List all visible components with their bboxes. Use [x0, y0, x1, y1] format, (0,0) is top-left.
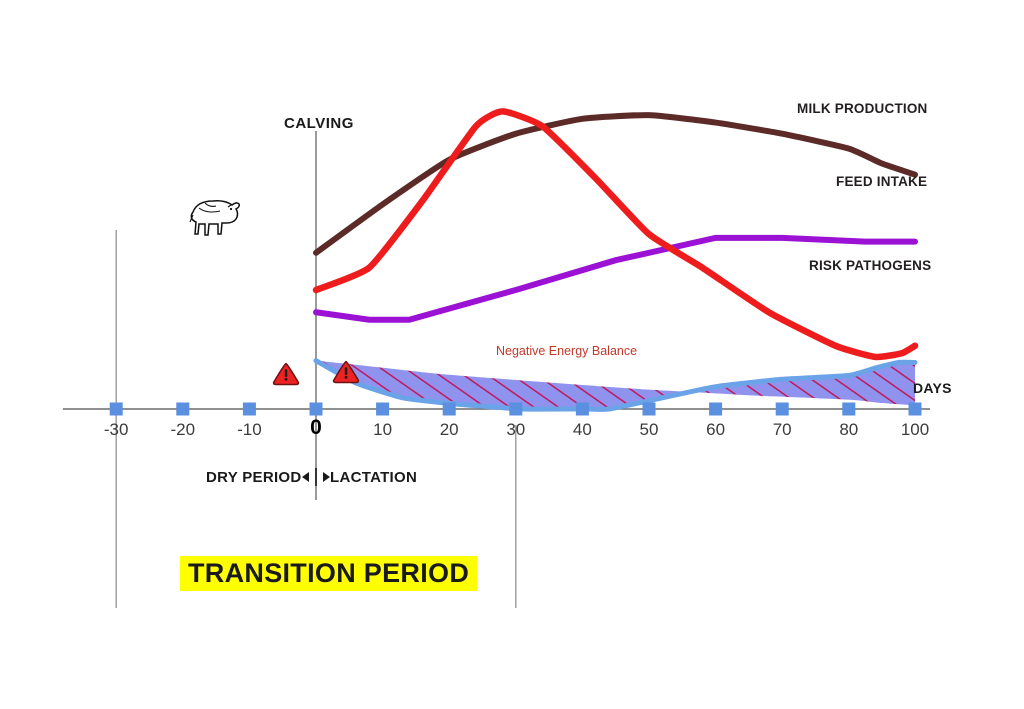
negative-energy-balance-label: Negative Energy Balance — [492, 343, 641, 359]
exclamation-dot — [345, 376, 348, 379]
dry-lactation-arrows — [302, 468, 330, 486]
cow-icon — [190, 201, 239, 235]
chart-canvas: CALVING MILK PRODUCTION FEED INTAKE RISK… — [0, 0, 1024, 709]
exclamation-bar — [345, 367, 347, 375]
x-axis-tick-label: -20 — [171, 420, 196, 440]
x-axis-tick-marker — [909, 403, 922, 416]
x-axis-tick-label: 40 — [573, 420, 592, 440]
x-axis-tick-label: 30 — [506, 420, 525, 440]
x-axis-tick-label: 10 — [373, 420, 392, 440]
x-axis-tick-marker — [643, 403, 656, 416]
legend-label-feed-intake: FEED INTAKE — [836, 174, 927, 189]
x-axis-tick-label: 0 — [310, 416, 322, 440]
exclamation-bar — [285, 369, 287, 377]
x-axis-tick-label: 50 — [640, 420, 659, 440]
x-axis-tick-marker — [509, 403, 522, 416]
x-axis-tick-marker — [243, 403, 256, 416]
x-axis-tick-label: 100 — [901, 420, 929, 440]
arrow-right-icon — [323, 472, 330, 482]
dry-period-label: DRY PERIOD — [206, 469, 302, 486]
x-axis-tick-label: 20 — [440, 420, 459, 440]
negative-energy-balance-region — [316, 361, 915, 410]
x-axis-tick-marker — [576, 403, 589, 416]
transition-period-label: TRANSITION PERIOD — [180, 556, 477, 591]
x-axis-tick-marker — [842, 403, 855, 416]
x-axis-tick-marker — [176, 403, 189, 416]
x-axis-tick-marker — [310, 403, 323, 416]
legend-label-milk-production: MILK PRODUCTION — [797, 101, 928, 116]
arrow-left-icon — [302, 472, 309, 482]
legend-label-risk-pathogens: RISK PATHOGENS — [809, 258, 931, 273]
x-axis-tick-label: 80 — [839, 420, 858, 440]
exclamation-dot — [285, 378, 288, 381]
x-axis-tick-label: -10 — [237, 420, 262, 440]
x-axis-tick-marker — [443, 403, 456, 416]
x-axis-tick-label: 70 — [773, 420, 792, 440]
series-line-milk-production — [316, 115, 915, 253]
transition-period-banner: TRANSITION PERIOD — [180, 558, 477, 589]
x-axis-tick-label: 60 — [706, 420, 725, 440]
cow-eye — [230, 208, 232, 210]
calving-label: CALVING — [284, 115, 354, 132]
x-axis-tick-marker — [776, 403, 789, 416]
x-axis-tick-marker — [376, 403, 389, 416]
x-axis-tick-marker — [709, 403, 722, 416]
warning-triangle-icon — [274, 364, 299, 385]
series-line-feed-intake — [316, 238, 915, 320]
lactation-label: LACTATION — [330, 469, 417, 486]
x-axis-title: DAYS — [913, 380, 952, 396]
x-axis-tick-label: -30 — [104, 420, 129, 440]
x-axis-tick-marker — [110, 403, 123, 416]
